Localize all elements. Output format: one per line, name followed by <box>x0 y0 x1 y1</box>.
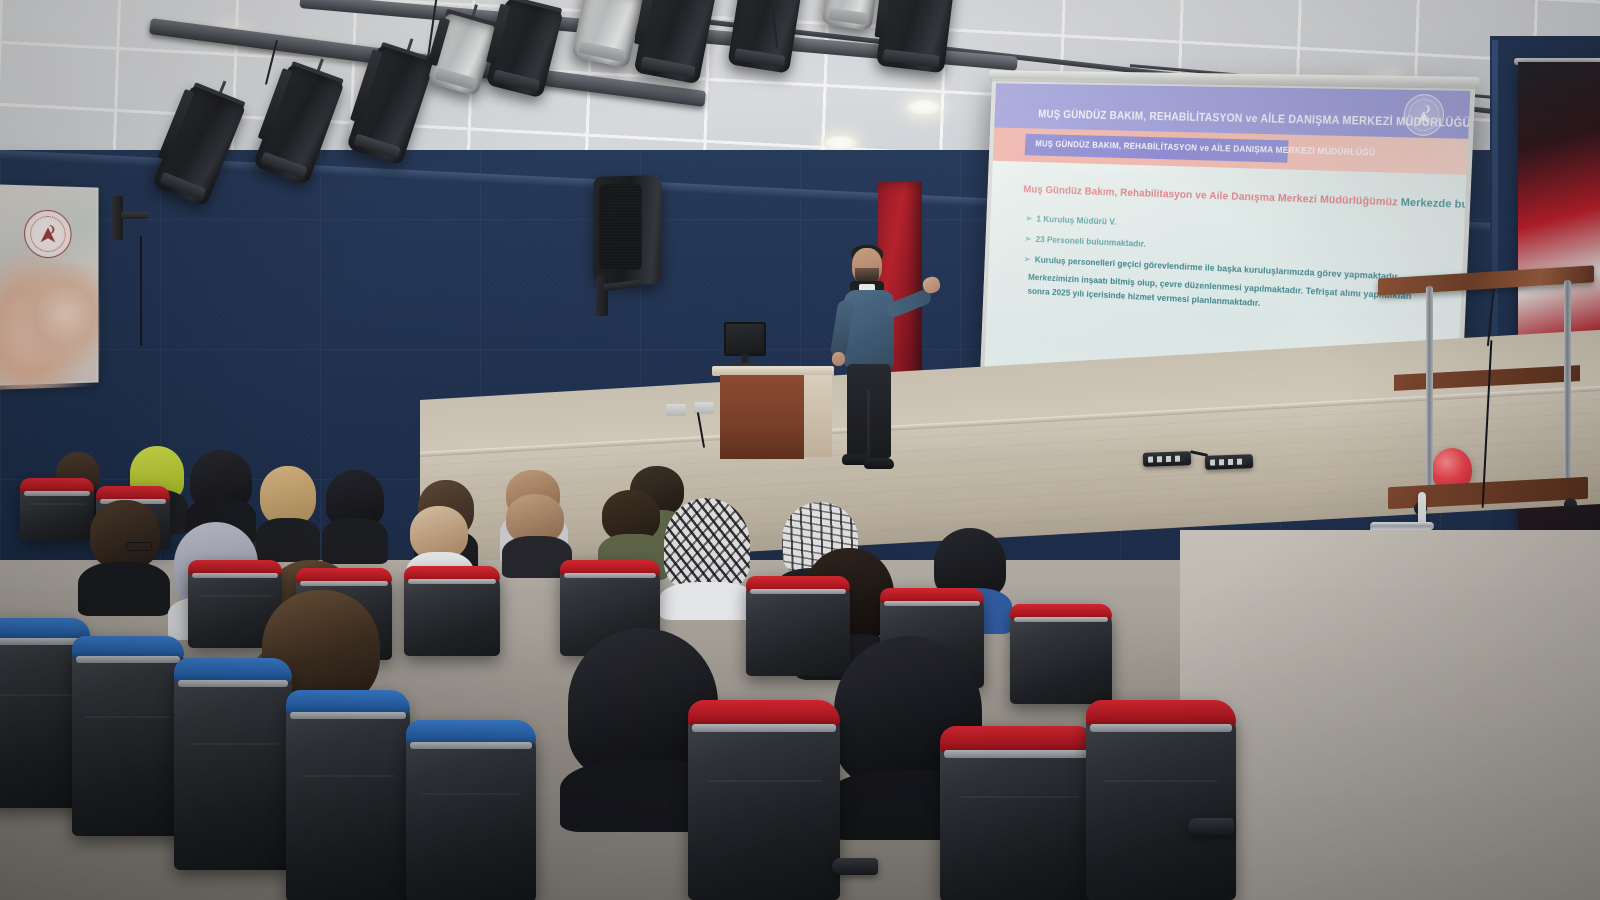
theater-seat[interactable] <box>940 726 1098 900</box>
bullet-2-text: 23 Personeli bulunmaktadır. <box>1035 235 1146 250</box>
slide-title-chip-text: MUŞ GÜNDÜZ BAKIM, REHABİLİTASYON ve AİLE… <box>1035 139 1376 158</box>
person-body <box>78 562 170 616</box>
wall-cable <box>140 236 142 346</box>
person-head <box>260 466 316 526</box>
theater-seat[interactable] <box>174 658 292 870</box>
bullet-arrow-icon: ➢ <box>1025 214 1032 224</box>
presenter-sweater <box>844 290 894 368</box>
aisle-floor <box>1180 530 1600 900</box>
stage-desk <box>712 366 834 460</box>
wall-outlet <box>666 404 686 416</box>
seat-groove <box>29 503 85 505</box>
led-wash-light <box>1205 454 1253 470</box>
seat-trim <box>300 581 388 586</box>
seat-trim <box>408 579 496 584</box>
ministry-emblem-icon <box>24 209 71 258</box>
crescent-icon <box>44 225 53 234</box>
presenter-right-arm <box>885 288 933 319</box>
bullet-arrow-icon: ➢ <box>1024 254 1031 265</box>
presenter-trousers <box>847 364 891 458</box>
slide-bullet-2: ➢23 Personeli bulunmaktadır. <box>1024 234 1146 250</box>
desk-front-panel <box>720 375 804 459</box>
presenter-left-hand <box>832 352 845 366</box>
seat-cushion-top <box>406 720 536 744</box>
theater-seat[interactable] <box>688 700 840 900</box>
seat-trim <box>564 573 656 578</box>
seat-trim <box>410 742 532 749</box>
theater-seat[interactable] <box>286 690 410 900</box>
bullet-arrow-icon: ➢ <box>1024 234 1031 244</box>
presenter-speaking <box>826 248 936 470</box>
theater-seat[interactable] <box>404 566 500 656</box>
lead-teal-text: Merkezde bulunmaktadır. <box>1401 197 1471 214</box>
lamp-body <box>876 0 956 73</box>
bullet-1-text: 1 Kuruluş Müdürü V. <box>1036 214 1116 227</box>
auditorium-photo: MUŞ GÜNDÜZ BAKIM, REHABİLİTASYON ve AİLE… <box>0 0 1600 900</box>
seat-trim <box>178 680 288 687</box>
seat-groove <box>0 694 78 696</box>
desk-monitor <box>724 322 766 356</box>
lead-pink-text: Muş Gündüz Bakım, Rehabilitasyon ve Aile… <box>1023 184 1398 209</box>
speaker-bracket <box>596 276 608 316</box>
seat-trim <box>884 601 980 606</box>
seat-trim <box>750 589 846 594</box>
audience-person <box>502 494 572 574</box>
seat-cushion-top <box>688 700 840 726</box>
seat-trim <box>1090 724 1232 732</box>
seat-groove <box>422 793 521 795</box>
barn-door <box>875 0 893 38</box>
person-headscarf-patterned <box>664 498 750 590</box>
seat-armrest[interactable] <box>1188 818 1234 835</box>
seat-trim <box>944 750 1094 758</box>
seat-trim <box>692 724 836 732</box>
seat-trim <box>24 491 90 496</box>
led-wash-light <box>1143 451 1191 467</box>
seat-trim <box>290 712 406 719</box>
seat-groove <box>188 743 278 745</box>
person-head <box>90 500 160 570</box>
seat-armrest[interactable] <box>832 858 878 875</box>
person-body <box>256 518 320 562</box>
seat-trim <box>1014 617 1108 622</box>
audience-person <box>660 498 756 614</box>
seat-groove <box>1104 780 1218 782</box>
seat-groove <box>706 780 822 782</box>
slide-bullet-1: ➢1 Kuruluş Müdürü V. <box>1025 214 1116 228</box>
poster-hands-image-2 <box>10 262 99 373</box>
seat-cushion-top <box>940 726 1098 752</box>
handrail-curve <box>1370 522 1434 530</box>
crescent-icon <box>1420 105 1428 113</box>
seat-groove <box>85 716 170 718</box>
audience-person <box>322 470 388 562</box>
seat-cushion-top <box>0 618 90 640</box>
seat-groove <box>301 775 395 777</box>
ministry-poster <box>0 184 99 385</box>
theater-seat[interactable] <box>406 720 536 900</box>
stage-spotlight <box>876 0 956 73</box>
seat-trim <box>76 656 180 663</box>
theater-seat[interactable] <box>72 636 184 836</box>
seat-trim <box>192 573 278 578</box>
person-body <box>660 582 756 620</box>
bracket-arm <box>121 212 148 219</box>
wall-bracket-mount <box>112 196 148 240</box>
lectern-caster-wheel <box>1564 498 1577 511</box>
presenter-shoe <box>864 458 894 469</box>
downlight-icon <box>907 100 941 115</box>
slide-title-chip: MUŞ GÜNDÜZ BAKIM, REHABİLİTASYON ve AİLE… <box>1025 134 1289 163</box>
seat-cushion-top <box>286 690 410 714</box>
audience-person <box>78 500 170 610</box>
person-body <box>322 518 388 564</box>
lectern-leg <box>1564 280 1571 496</box>
eyeglasses-icon <box>126 542 152 551</box>
seat-groove <box>959 796 1079 798</box>
downlight-icon <box>823 136 857 151</box>
theater-seat[interactable] <box>1086 700 1236 900</box>
seat-cushion-top <box>72 636 184 658</box>
lectern-leg <box>1426 286 1433 496</box>
ministry-emblem-icon <box>1403 94 1445 137</box>
audience-person <box>256 466 320 558</box>
slide-lead-line: Muş Gündüz Bakım, Rehabilitasyon ve Aile… <box>1023 184 1436 210</box>
seat-cushion-top <box>174 658 292 682</box>
wall-pa-speaker <box>594 175 662 285</box>
theater-seat[interactable] <box>1010 604 1112 704</box>
seat-cushion-top <box>1086 700 1236 726</box>
